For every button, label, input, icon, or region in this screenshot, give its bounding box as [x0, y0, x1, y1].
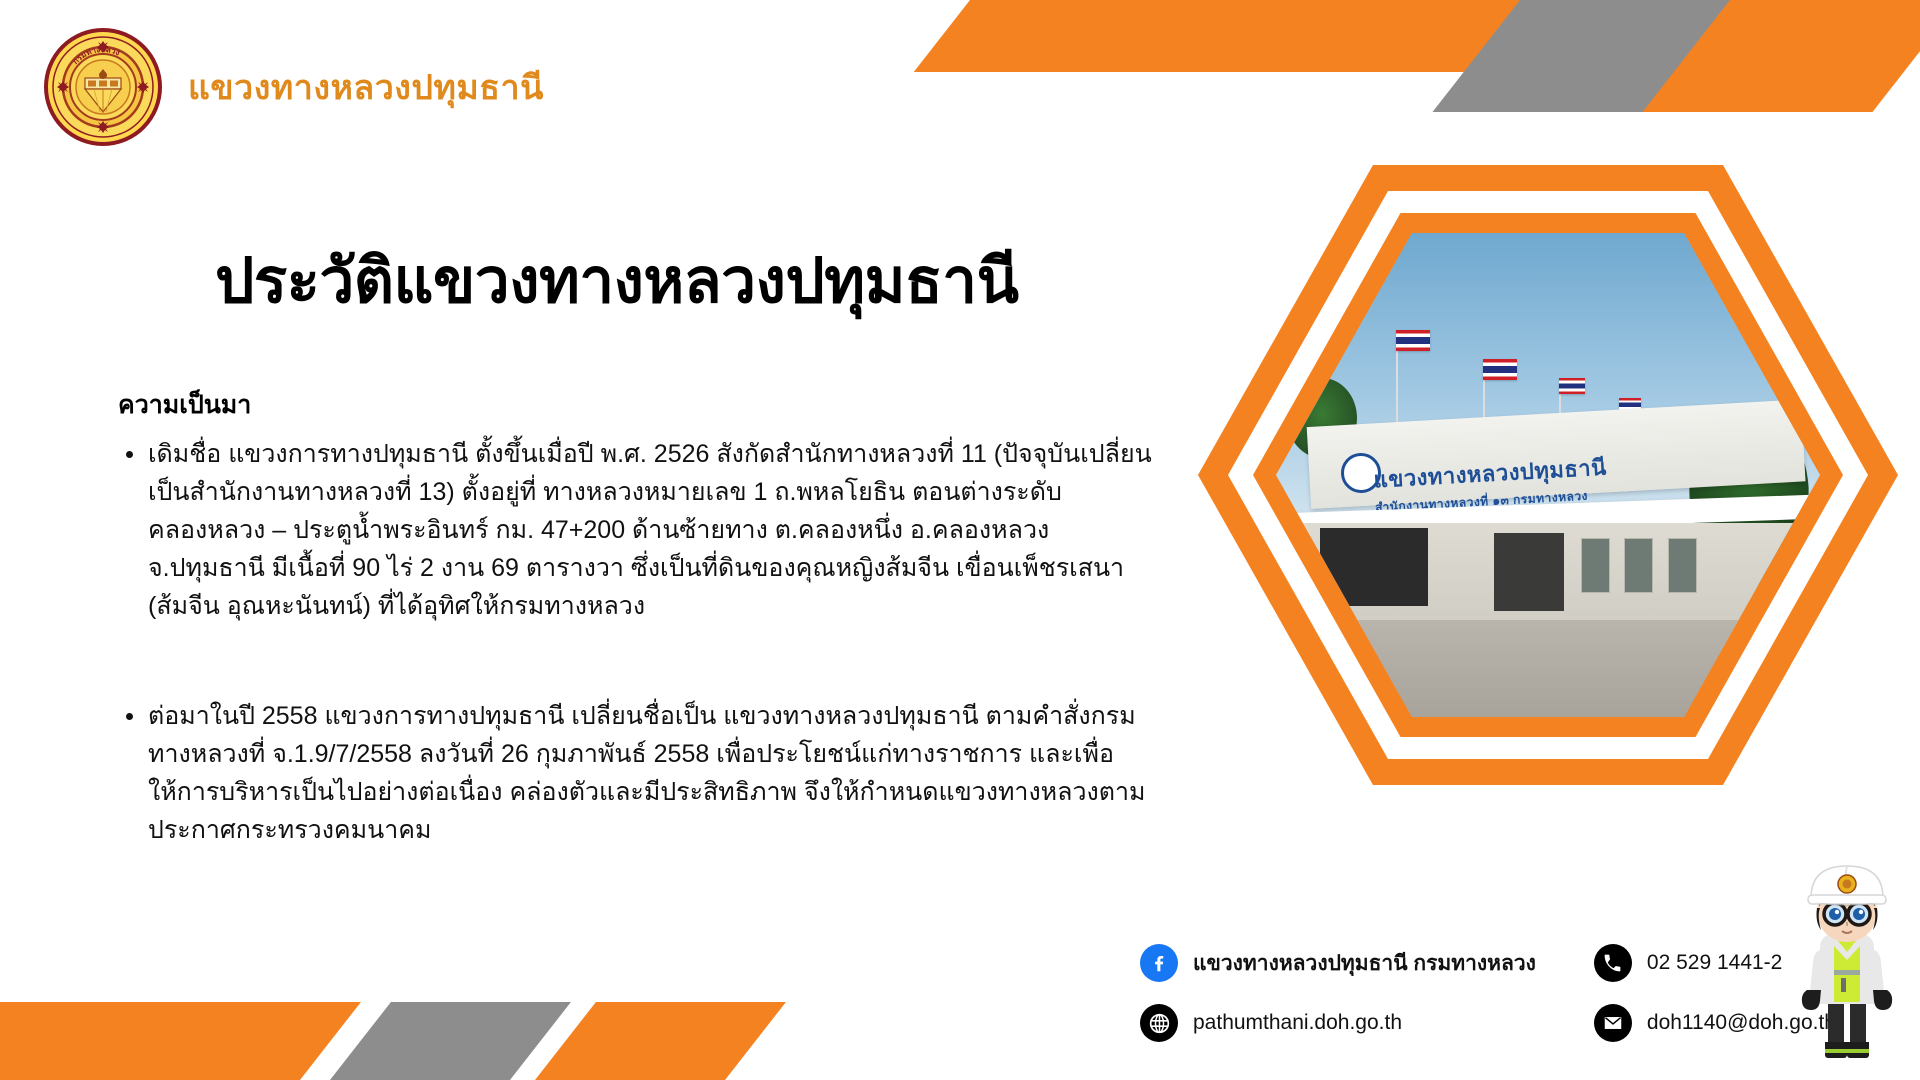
- decor-top-right-orange-block: [1642, 0, 1920, 112]
- section-heading-background: ความเป็นมา: [118, 385, 1158, 425]
- contact-website-label: pathumthani.doh.go.th: [1193, 1011, 1402, 1035]
- phone-icon: [1594, 944, 1632, 982]
- contact-facebook[interactable]: แขวงทางหลวงปทุมธานี กรมทางหลวง: [1140, 944, 1536, 982]
- contact-facebook-label: แขวงทางหลวงปทุมธานี กรมทางหลวง: [1193, 947, 1536, 980]
- photo-window-3: [1668, 538, 1697, 593]
- photo-building-entrance: [1494, 533, 1565, 610]
- department-of-highways-seal-icon: กรมทางหลวง: [44, 28, 162, 146]
- hexagon-photo-frame: แขวงทางหลวงปทุมธานี สำนักงานทางหลวงที่ ๑…: [1198, 165, 1898, 785]
- list-item: ต่อมาในปี 2558 แขวงการทางปทุมธานี เปลี่ย…: [118, 697, 1158, 849]
- photo-thai-flag-1: [1396, 330, 1430, 351]
- contact-info-group: แขวงทางหลวงปทุมธานี กรมทางหลวง 02 529 14…: [1140, 944, 1836, 1042]
- photo-thai-flag-2: [1483, 359, 1517, 380]
- decor-bottom-left-orange-band: [0, 1002, 361, 1080]
- decor-bottom-left-orange-band-2: [535, 1002, 786, 1080]
- decor-top-right-orange-band-2: [1372, 0, 1548, 72]
- globe-icon: [1140, 1004, 1178, 1042]
- page-title: ประวัติแขวงทางหลวงปทุมธานี: [215, 232, 1019, 330]
- email-icon: [1594, 1004, 1632, 1042]
- decor-top-right-grey-band: [1432, 0, 1750, 112]
- decor-bottom-left-grey-band: [330, 1002, 571, 1080]
- contact-website[interactable]: pathumthani.doh.go.th: [1140, 1004, 1536, 1042]
- page-header: กรมทางหลวง แขวงทางหลวงปทุมธานี: [44, 28, 544, 146]
- list-item: เดิมชื่อ แขวงการทางปทุมธานี ตั้งขึ้นเมื่…: [118, 435, 1158, 625]
- highway-engineer-mascot: [1784, 850, 1910, 1072]
- history-bullet-list: เดิมชื่อ แขวงการทางปทุมธานี ตั้งขึ้นเมื่…: [118, 435, 1158, 849]
- contact-phone-label: 02 529 1441-2: [1647, 951, 1782, 975]
- facebook-icon: [1140, 944, 1178, 982]
- organization-name: แขวงทางหลวงปทุมธานี: [188, 60, 544, 114]
- photo-window-2: [1624, 538, 1653, 593]
- decor-top-right-orange-band: [914, 0, 1450, 72]
- content-body: ความเป็นมา เดิมชื่อ แขวงการทางปทุมธานี ต…: [118, 385, 1158, 849]
- photo-thai-flag-3: [1559, 378, 1585, 394]
- photo-window-1: [1581, 538, 1610, 593]
